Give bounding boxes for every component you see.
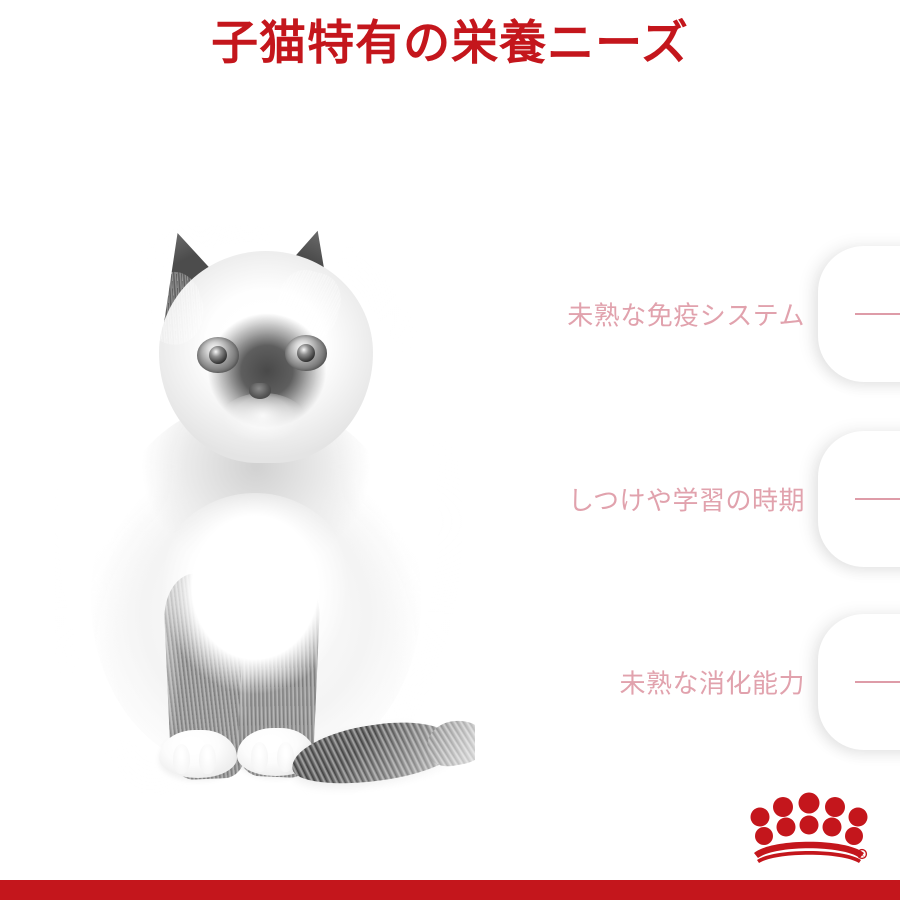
kitten-chest-ruff	[151, 493, 359, 703]
svg-text:R: R	[860, 853, 864, 859]
feature-label-2: しつけや学習の時期	[568, 481, 805, 518]
footer-red-bar	[0, 880, 900, 900]
feature-label-1: 未熟な免疫システム	[567, 296, 805, 333]
kitten-muzzle	[219, 393, 307, 449]
feature-connector-2	[855, 498, 900, 500]
feature-row-3: 未熟な消化能力	[430, 614, 900, 750]
feature-connector-3	[855, 681, 900, 683]
feature-row-1: 未熟な免疫システム	[430, 246, 900, 382]
kitten-illustration	[55, 225, 475, 795]
kitten-eye-right	[285, 335, 327, 371]
royal-canin-crown-logo: R	[748, 792, 870, 866]
feature-connector-1	[855, 313, 900, 315]
feature-label-3: 未熟な消化能力	[619, 664, 805, 701]
feature-row-2: しつけや学習の時期	[430, 431, 900, 567]
kitten-nose	[249, 383, 271, 399]
page-title-text: 子猫特有の栄養ニーズ	[211, 18, 689, 71]
infographic-root: 子猫特有の栄養ニーズ 未熟な免疫システム	[0, 0, 900, 900]
kitten-paw-left	[159, 730, 237, 778]
kitten-photo	[55, 225, 475, 795]
kitten-eye-left	[197, 337, 239, 373]
page-title: 子猫特有の栄養ニーズ	[0, 18, 900, 71]
